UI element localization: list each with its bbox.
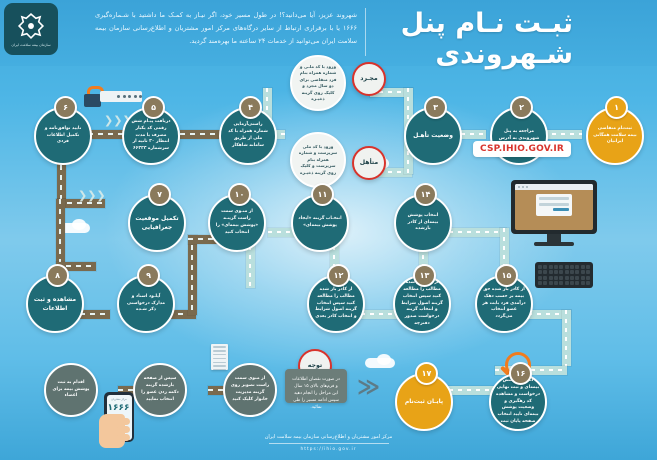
padlock-illustration	[84, 86, 101, 107]
infographic-canvas: سازمان بیمه سلامت ایران ثبـت نـام پنل شـ…	[0, 0, 657, 460]
step-node-11-label: انتخـاب گزینه «ایجاد پوشش بیمه‌ای»	[298, 216, 342, 230]
branch-node-married[interactable]: ورود با کد ملی سرپرست و شماره همراه بنام…	[290, 132, 346, 188]
step-node-15-label: از کادر باز شده حق بیمه بر حسب دهک درآمد…	[482, 287, 526, 321]
step-badge-3: ۳	[424, 96, 447, 119]
step-node-9-label: آپلـود اسناد و مدارک درخواستی ذکر شـده	[124, 294, 168, 314]
step-node-7-label: تکمیل موقعیت جغرافیایی	[135, 214, 179, 233]
step-badge-10: ۱۰	[228, 183, 251, 206]
cloud-icon	[377, 354, 391, 365]
step-node-4-label: راستی‌آزمایی شماره همراه با کد ملی از طر…	[226, 122, 270, 149]
header-divider	[365, 8, 367, 56]
branch-node-single[interactable]: ورود با کد ملـی و شماره همراه بنام فرد م…	[290, 55, 346, 111]
step-badge-4: ۴	[239, 96, 262, 119]
step-badge-11: ۱۱	[311, 183, 334, 206]
step-node-5-label: دریافت پیـام شش رقمی کد یکبار مصرف با مد…	[129, 119, 173, 153]
step-node-17-label: پایـان ثبت‌نام	[405, 397, 443, 406]
status-node-single-label: مجـرد	[360, 74, 377, 84]
road-segment	[562, 310, 571, 366]
attention-note: در صورت نقصان اطلاعات و فرم‌های بالای ۱۵…	[285, 369, 347, 403]
logo-org-label: سازمان بیمه سلامت ایران	[11, 43, 50, 47]
phone-label: مرکز مشتریان	[109, 398, 130, 401]
attention-note-text: در صورت نقصان اطلاعات و فرم‌های بالای ۱۵…	[292, 377, 340, 410]
step-badge-2: ۲	[510, 96, 533, 119]
status-node-married-label: متأهل	[360, 158, 379, 168]
padlock-icon	[84, 86, 101, 107]
intro-paragraph: شهروند عزیز، آیا می‌دانید؟! در طول مسیر …	[95, 9, 357, 48]
step-badge-8: ۸	[46, 264, 69, 287]
cloud-icon	[72, 219, 86, 230]
double-arrow-left-icon: ≪	[357, 377, 380, 399]
organization-logo: سازمان بیمه سلامت ایران	[4, 3, 58, 55]
gray-node-c[interactable]: از منوی سمت راست تصویر روی گزینه مدیریت …	[223, 363, 277, 417]
status-node-married[interactable]: متأهل	[352, 146, 386, 180]
phone-number: ۱۶۶۶	[109, 403, 130, 413]
gray-node-a[interactable]: اقدام به ثبت پوشش بیمه برای اعضاء	[44, 363, 98, 417]
step-node-16-label: انتخاب پوشش بیمه‌ای و ثبت نهایی درخواست …	[496, 378, 540, 426]
document-sheet-icon	[211, 344, 228, 370]
step-node-13-label: از کادر باز شده مطالب را مطالعه کنید سپس…	[400, 280, 444, 328]
step-badge-5: ۵	[142, 96, 165, 119]
branch-node-married-label: ورود با کد ملی سرپرست و شماره همراه بنام…	[297, 144, 339, 177]
step-badge-12: ۱۲	[327, 264, 350, 287]
gray-node-b[interactable]: سپس از صفحه بازشده گزینه دکمه زدن عضو را…	[133, 363, 187, 417]
status-node-single[interactable]: مجـرد	[352, 62, 386, 96]
footer-divider	[269, 443, 389, 444]
portal-url-pill[interactable]: CSP.IHIO.GOV.IR	[473, 141, 571, 157]
step-badge-9: ۹	[137, 264, 160, 287]
road-segment	[188, 235, 197, 315]
monitor-icon	[511, 180, 597, 234]
footer-url[interactable]: https://ihio.gov.ir	[0, 447, 657, 452]
keyboard-icon	[535, 262, 593, 288]
step-node-12-label: از کادر باز شده مطالب را مطالعه کنید سپس…	[314, 287, 358, 321]
step-node-14-label: انتخاب پوشش بیمه‌ای از کادر بازشده	[401, 213, 445, 233]
shield-emblem-icon	[17, 12, 45, 40]
step-badge-1: ۱	[605, 96, 628, 119]
monitor-illustration	[511, 180, 597, 246]
footer-org: مرکز امور مشتریان و اطلاع‌رسانی سازمان ب…	[0, 434, 657, 440]
step-badge-13: ۱۳	[413, 264, 436, 287]
direction-chevron-icon: ❮❮❮	[78, 190, 106, 201]
step-node-3-label: وضعیت تأهـل	[413, 131, 453, 140]
step-badge-14: ۱۴	[414, 183, 437, 206]
step-badge-7: ۷	[148, 183, 171, 206]
gray-node-c-label: از منوی سمت راست تصویر روی گزینه مدیریت …	[230, 376, 270, 403]
footer: مرکز امور مشتریان و اطلاع‌رسانی سازمان ب…	[0, 434, 657, 452]
road-segment	[56, 199, 65, 269]
step-node-8-label: مشاهده و ثبت اطلاعات	[33, 295, 77, 314]
gray-node-a-label: اقدام به ثبت پوشش بیمه برای اعضاء	[51, 380, 91, 400]
branch-node-single-label: ورود با کد ملـی و شماره همراه بنام فرد م…	[297, 64, 339, 103]
step-node-1-label: ثبت‌نام متقاضی بیمه سلامت همگانی ایرانیا…	[593, 126, 637, 146]
password-field-illustration	[100, 91, 142, 102]
step-badge-17: ۱۷	[415, 362, 438, 385]
step-badge-15: ۱۵	[495, 264, 518, 287]
step-badge-16: ۱۶	[509, 362, 532, 385]
step-badge-6: ۶	[54, 96, 77, 119]
step-node-10-label: از منـوی سمت راست گزینـه «پوشش بیمه‌ای» …	[215, 209, 259, 236]
step-node-6-label: تایید توافق‌نامه و تکمیل اطلاعات فردی	[41, 126, 85, 146]
gray-node-b-label: سپس از صفحه بازشده گزینه دکمه زدن عضو را…	[140, 376, 180, 403]
